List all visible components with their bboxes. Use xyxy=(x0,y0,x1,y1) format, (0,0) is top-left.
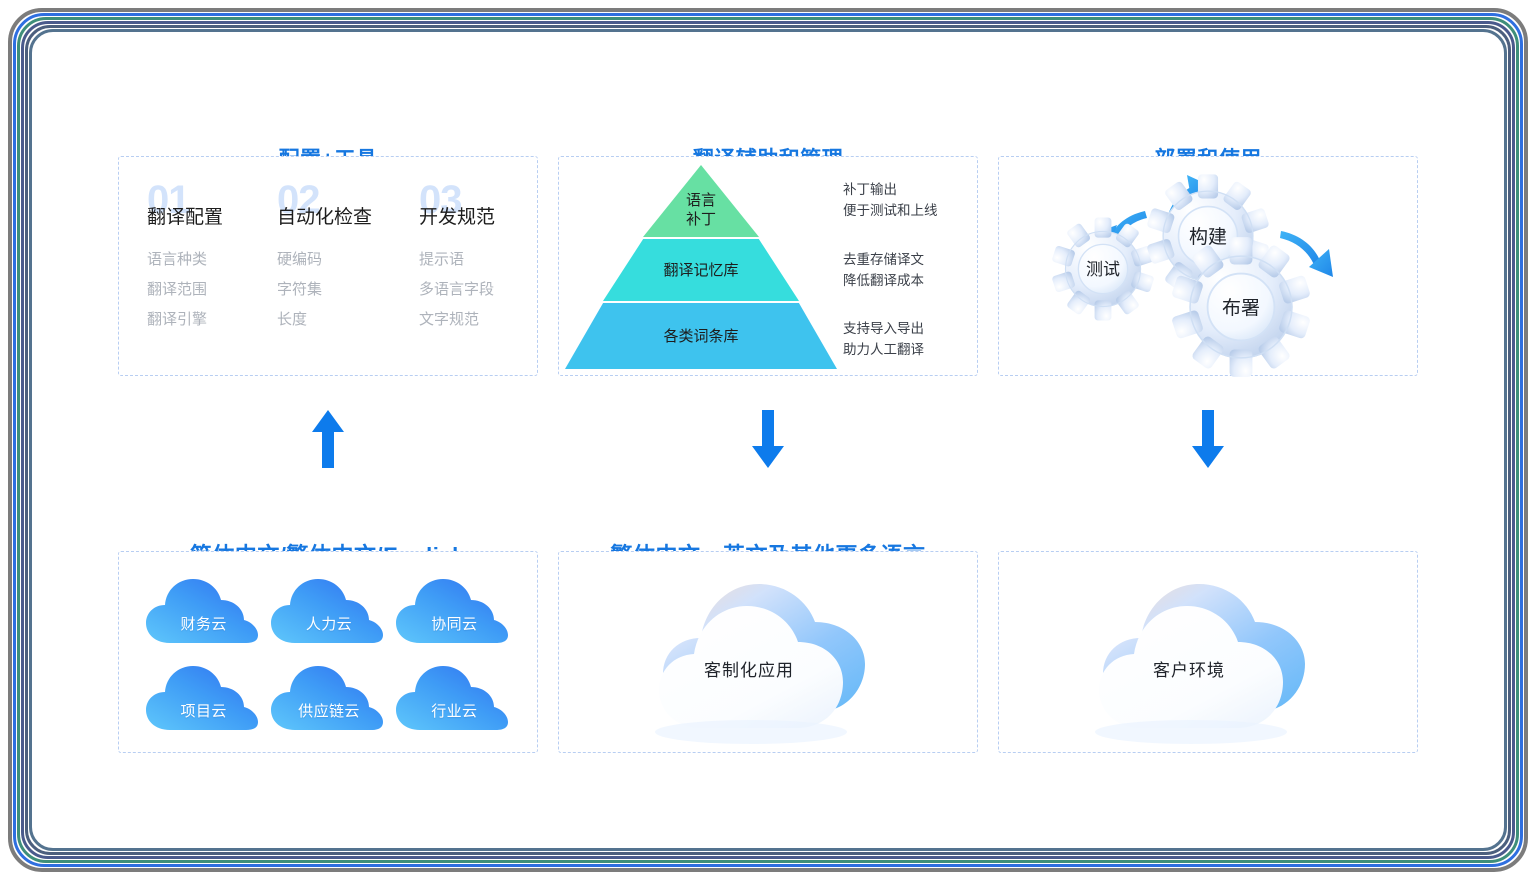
cloud-label: 人力云 xyxy=(269,613,389,634)
cloud-icon xyxy=(144,660,264,734)
cloud-label: 项目云 xyxy=(144,700,264,721)
cloud-icon-large xyxy=(559,552,979,754)
panel-config-tools: 01 翻译配置 语言种类 翻译范围 翻译引擎 02 自动化检查 硬编码 字符集 … xyxy=(118,156,538,376)
group-items-02: 硬编码 字符集 长度 xyxy=(277,245,372,335)
cloud-icon xyxy=(394,660,514,734)
panel-custom-application: 客制化应用 xyxy=(558,551,978,753)
pyramid-note-middle: 去重存储译文 降低翻译成本 xyxy=(843,249,924,291)
group-item: 长度 xyxy=(277,305,372,335)
group-item: 硬编码 xyxy=(277,245,372,275)
group-heading-03: 开发规范 xyxy=(419,203,495,233)
config-group-03: 03 开发规范 提示语 多语言字段 文字规范 xyxy=(419,183,495,335)
cloud-icon xyxy=(269,660,389,734)
group-item: 文字规范 xyxy=(419,305,495,335)
group-items-01: 语言种类 翻译范围 翻译引擎 xyxy=(147,245,223,335)
group-items-03: 提示语 多语言字段 文字规范 xyxy=(419,245,495,335)
big-cloud-custom: 客制化应用 xyxy=(559,552,979,754)
cloud-item[interactable]: 项目云 xyxy=(144,660,264,734)
pyramid-note-top: 补丁输出 便于测试和上线 xyxy=(843,179,938,221)
cloud-label: 行业云 xyxy=(394,700,514,721)
panel-customer-environment: 客户环境 xyxy=(998,551,1418,753)
gear-test-group: 测试 xyxy=(1051,217,1154,320)
note-line: 助力人工翻译 xyxy=(843,339,924,360)
pyramid-tier-top: 语言 补丁 xyxy=(643,165,759,237)
group-item: 翻译范围 xyxy=(147,275,223,305)
cloud-item[interactable]: 协同云 xyxy=(394,573,514,647)
cloud-label: 供应链云 xyxy=(269,700,389,721)
diagram-canvas: 配置+工具 翻译辅助和管理 部署和使用 01 翻译配置 语言种类 翻译范围 翻译… xyxy=(33,33,1503,847)
gear-arrow-right xyxy=(1280,231,1333,277)
group-heading-02: 自动化检查 xyxy=(277,203,372,233)
panel-deploy-usage: 测试 构建 布署 xyxy=(998,156,1418,376)
arrow-down-deploy xyxy=(1188,408,1228,470)
cloud-item[interactable]: 供应链云 xyxy=(269,660,389,734)
gear-deploy-label: 布署 xyxy=(1222,297,1260,319)
config-group-02: 02 自动化检查 硬编码 字符集 长度 xyxy=(277,183,372,335)
pyramid-tier-middle: 翻译记忆库 xyxy=(603,239,799,301)
group-item: 字符集 xyxy=(277,275,372,305)
note-line: 去重存储译文 xyxy=(843,249,924,270)
cloud-label: 财务云 xyxy=(144,613,264,634)
pyramid-tier-bottom: 各类词条库 xyxy=(565,303,837,369)
cloud-icon-large xyxy=(999,552,1419,754)
custom-app-label: 客制化应用 xyxy=(519,656,979,681)
pyramid-chart: 语言 补丁 翻译记忆库 各类词条库 xyxy=(565,165,837,370)
note-line: 降低翻译成本 xyxy=(843,270,924,291)
cloud-grid: 财务云 人力云 协同云 项目云 xyxy=(141,566,517,740)
cloud-item[interactable]: 财务云 xyxy=(144,573,264,647)
note-line: 支持导入导出 xyxy=(843,318,924,339)
cloud-label: 协同云 xyxy=(394,613,514,634)
pyramid-note-bottom: 支持导入导出 助力人工翻译 xyxy=(843,318,924,360)
cloud-item[interactable]: 行业云 xyxy=(394,660,514,734)
panel-product-clouds: 财务云 人力云 协同云 项目云 xyxy=(118,551,538,753)
note-line: 补丁输出 xyxy=(843,179,938,200)
cloud-icon xyxy=(144,573,264,647)
cloud-icon xyxy=(394,573,514,647)
pyramid-tier-middle-label: 翻译记忆库 xyxy=(663,261,738,280)
pyramid-tier-top-line1: 语言 xyxy=(686,192,716,209)
group-heading-01: 翻译配置 xyxy=(147,203,223,233)
config-group-01: 01 翻译配置 语言种类 翻译范围 翻译引擎 xyxy=(147,183,223,335)
big-cloud-customer: 客户环境 xyxy=(999,552,1419,754)
arrow-up-config xyxy=(308,408,348,470)
pyramid-tier-bottom-label: 各类词条库 xyxy=(663,327,738,346)
pyramid-tier-top-line2: 补丁 xyxy=(686,211,716,228)
gear-illustration: 测试 构建 布署 xyxy=(999,157,1419,377)
group-item: 多语言字段 xyxy=(419,275,495,305)
cloud-item[interactable]: 人力云 xyxy=(269,573,389,647)
customer-env-label: 客户环境 xyxy=(959,656,1419,681)
arrow-down-translation xyxy=(748,408,788,470)
group-item: 提示语 xyxy=(419,245,495,275)
panel-translation-management: 语言 补丁 翻译记忆库 各类词条库 补丁输出 便于测试和上线 去重存储译文 降低… xyxy=(558,156,978,376)
gear-test-label: 测试 xyxy=(1086,260,1120,279)
group-item: 语言种类 xyxy=(147,245,223,275)
cloud-icon xyxy=(269,573,389,647)
note-line: 便于测试和上线 xyxy=(843,200,938,221)
gear-build-label: 构建 xyxy=(1189,226,1227,248)
group-item: 翻译引擎 xyxy=(147,305,223,335)
